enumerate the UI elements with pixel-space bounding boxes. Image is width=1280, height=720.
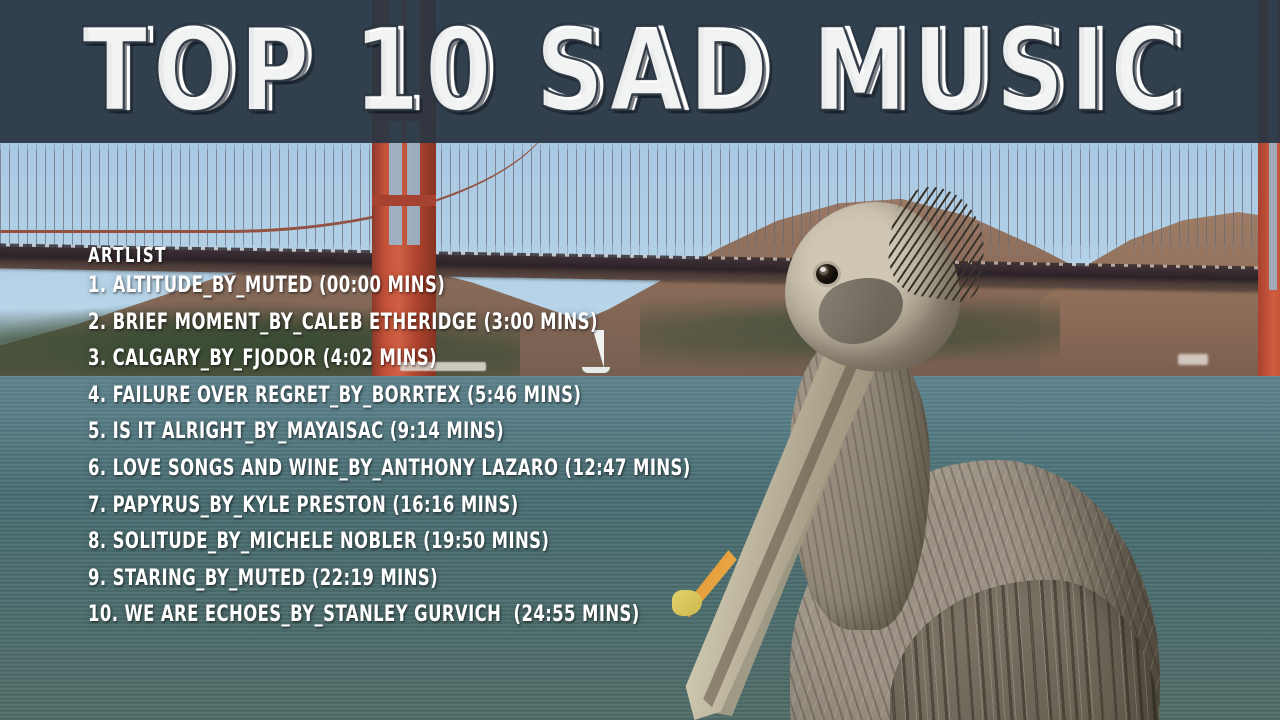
page-title: TOP 10 SAD MUSIC TOP 10 SAD MUSIC — [82, 14, 1198, 129]
track-item-10: 10. WE ARE ECHOES_BY_STANLEY GURVICH (24… — [88, 601, 709, 649]
tracklist-heading: ARTLIST — [88, 243, 728, 267]
video-thumbnail: TOP 10 SAD MUSIC TOP 10 SAD MUSIC ARTLIS… — [0, 0, 1280, 720]
pelican — [640, 160, 1280, 720]
tracklist: ARTLIST 1. ALTITUDE_BY_MUTED (00:00 MINS… — [88, 243, 728, 644]
title-banner: TOP 10 SAD MUSIC TOP 10 SAD MUSIC — [0, 0, 1280, 143]
tower-strut — [372, 195, 436, 206]
pelican-eye — [816, 264, 838, 284]
page-title-text: TOP 10 SAD MUSIC — [88, 4, 1192, 137]
pelican-eye-highlight — [820, 267, 826, 272]
